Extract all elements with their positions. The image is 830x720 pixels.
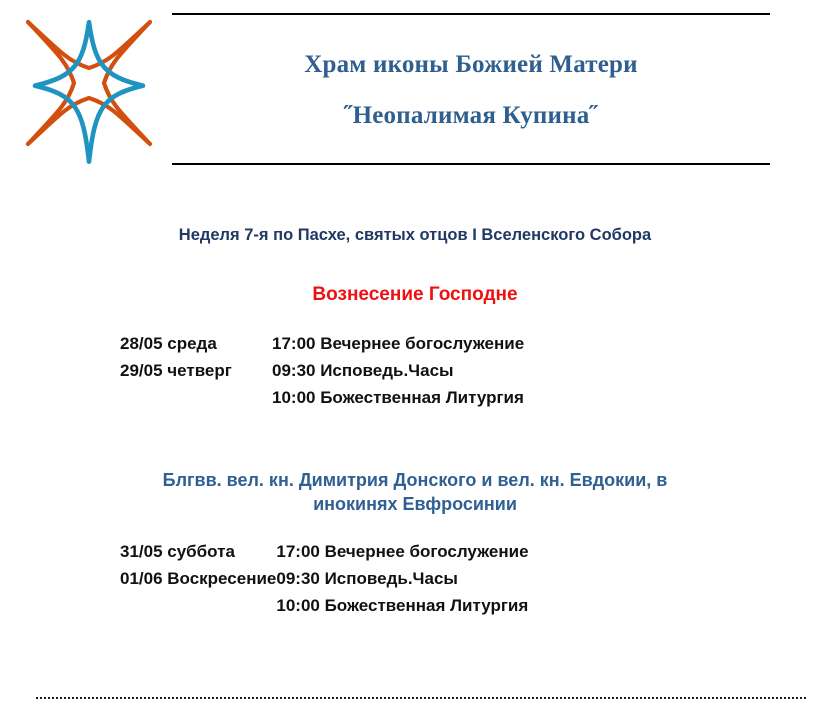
row-service: 10:00 Божественная Литургия	[276, 593, 528, 620]
row-date: 29/05 четверг	[0, 358, 272, 385]
row-service: 17:00 Вечернее богослужение	[272, 331, 524, 358]
church-logo	[10, 10, 168, 170]
row-service: 09:30 Исповедь.Часы	[272, 358, 524, 385]
schedule-content: Неделя 7-я по Пасхе, святых отцов I Всел…	[0, 180, 830, 620]
section-rank-heading: Неделя 7-я по Пасхе, святых отцов I Всел…	[0, 225, 830, 247]
table-row: 10:00 Божественная Литургия	[0, 593, 529, 620]
row-date	[0, 385, 272, 412]
row-service: 17:00 Вечернее богослужение	[276, 539, 528, 566]
church-title: Храм иконы Божией Матери	[172, 51, 770, 79]
row-service: 10:00 Божественная Литургия	[272, 385, 524, 412]
header-rule-top	[172, 13, 770, 15]
section-feast-heading: Вознесение Господне	[0, 282, 830, 307]
table-row: 29/05 четверг 09:30 Исповедь.Часы	[0, 358, 524, 385]
section-spacer	[0, 411, 830, 469]
church-subtitle: ˝Неопалимая Купина˝	[172, 102, 770, 130]
church-schedule-page: { "colors": { "logo_blue": "#1f94c0", "l…	[0, 0, 830, 720]
table-row: 28/05 среда 17:00 Вечернее богослужение	[0, 331, 524, 358]
table-row: 31/05 суббота 17:00 Вечернее богослужени…	[0, 539, 529, 566]
schedule-table-2: 31/05 суббота 17:00 Вечернее богослужени…	[0, 539, 529, 620]
section-saints-heading: Блгвв. вел. кн. Димитрия Донского и вел.…	[0, 469, 830, 517]
title-block: Храм иконы Божией Матери ˝Неопалимая Куп…	[172, 13, 770, 167]
eight-pointed-star-icon	[10, 10, 168, 170]
masthead: Храм иконы Божией Матери ˝Неопалимая Куп…	[0, 0, 830, 180]
row-date: 31/05 суббота	[0, 539, 276, 566]
row-service: 09:30 Исповедь.Часы	[276, 566, 528, 593]
row-date: 01/06 Воскресение	[0, 566, 276, 593]
table-row: 01/06 Воскресение 09:30 Исповедь.Часы	[0, 566, 529, 593]
row-date	[0, 593, 276, 620]
footer-dotted-rule	[36, 697, 806, 699]
row-date: 28/05 среда	[0, 331, 272, 358]
header-rule-bottom	[172, 163, 770, 165]
schedule-table-1: 28/05 среда 17:00 Вечернее богослужение …	[0, 331, 524, 412]
table-row: 10:00 Божественная Литургия	[0, 385, 524, 412]
